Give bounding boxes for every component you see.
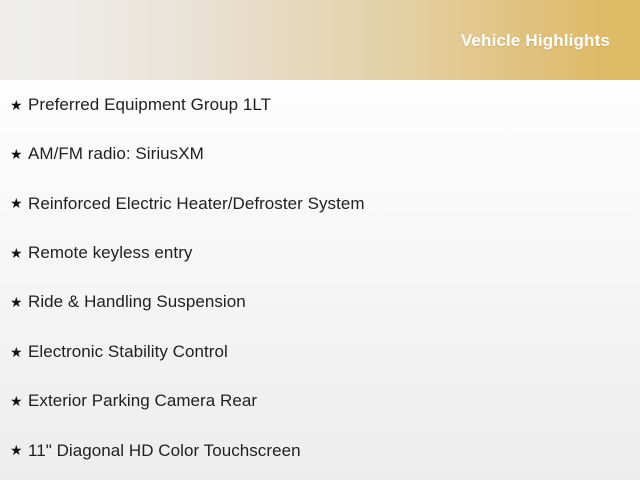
star-icon: ★ (10, 443, 28, 457)
list-item: ★ AM/FM radio: SiriusXM (0, 129, 640, 178)
star-icon: ★ (10, 394, 28, 408)
list-item-label: Exterior Parking Camera Rear (28, 391, 640, 411)
list-item-label: Preferred Equipment Group 1LT (28, 95, 640, 115)
list-item: ★ 11" Diagonal HD Color Touchscreen (0, 426, 640, 475)
list-item: ★ Exterior Parking Camera Rear (0, 376, 640, 425)
list-item-label: AM/FM radio: SiriusXM (28, 144, 640, 164)
star-icon: ★ (10, 345, 28, 359)
list-item: ★ Ride & Handling Suspension (0, 278, 640, 327)
vehicle-highlights-panel: Vehicle Highlights ★ Preferred Equipment… (0, 0, 640, 480)
header-banner: Vehicle Highlights (0, 0, 640, 80)
vehicle-highlights-list: ★ Preferred Equipment Group 1LT ★ AM/FM … (0, 80, 640, 475)
star-icon: ★ (10, 196, 28, 210)
list-item-label: 11" Diagonal HD Color Touchscreen (28, 441, 640, 461)
star-icon: ★ (10, 246, 28, 260)
list-item-label: Ride & Handling Suspension (28, 292, 640, 312)
star-icon: ★ (10, 147, 28, 161)
list-item: ★ Reinforced Electric Heater/Defroster S… (0, 179, 640, 228)
star-icon: ★ (10, 98, 28, 112)
page-title: Vehicle Highlights (461, 32, 610, 49)
list-item: ★ Preferred Equipment Group 1LT (0, 80, 640, 129)
list-item-label: Reinforced Electric Heater/Defroster Sys… (28, 194, 640, 214)
list-item-label: Electronic Stability Control (28, 342, 640, 362)
list-item: ★ Remote keyless entry (0, 228, 640, 277)
list-item: ★ Electronic Stability Control (0, 327, 640, 376)
star-icon: ★ (10, 295, 28, 309)
list-item-label: Remote keyless entry (28, 243, 640, 263)
